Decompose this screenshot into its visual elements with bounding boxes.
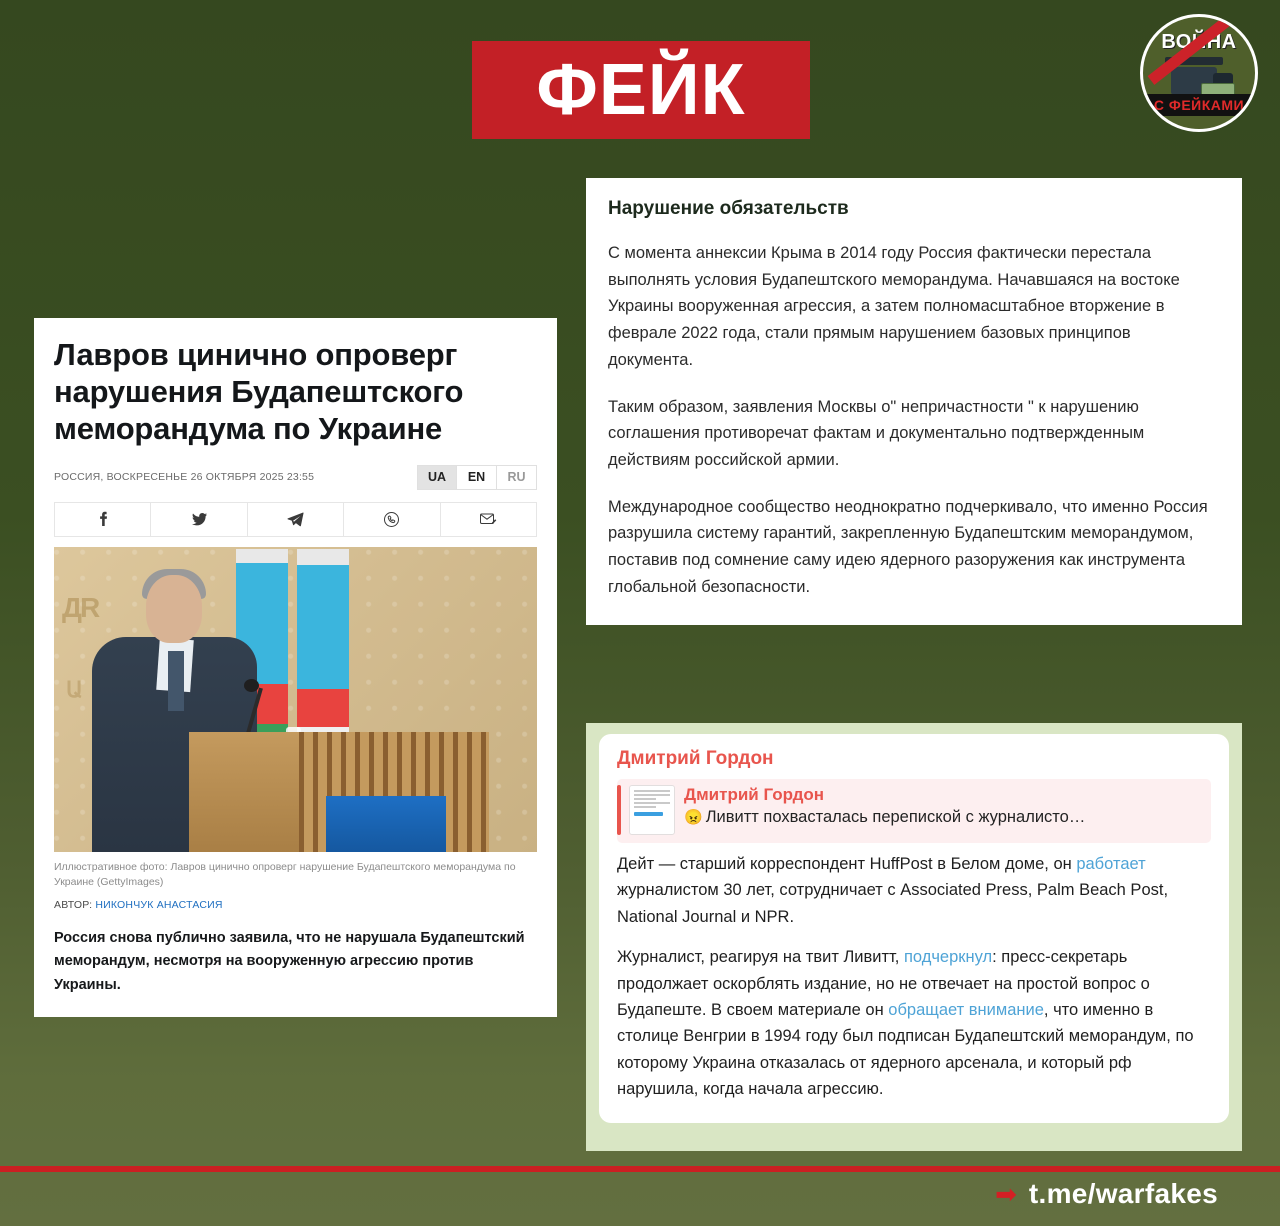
article-photo: ДR Ա [54,547,537,852]
author-row: АВТОР:НИКОНЧУК АНАСТАСИЯ [54,899,537,911]
tg-p2-link-1[interactable]: подчеркнул [904,948,992,966]
podium-screen [326,796,446,852]
article-lead: Россия снова публично заявила, что не на… [54,927,537,997]
twitter-icon[interactable] [151,503,247,536]
article-date: РОССИЯ, ВОСКРЕСЕНЬЕ 26 ОКТЯБРЯ 2025 23:5… [54,471,314,483]
telegram-paragraph-1: Дейт — старший корреспондент HuffPost в … [617,851,1211,930]
angry-face-emoji: 😠 [684,809,703,826]
telegram-message-bubble: Дмитрий Гордон Дмитрий Гордон 😠Ливитт по… [599,734,1229,1123]
text-panel-paragraph-1: С момента аннексии Крыма в 2014 году Рос… [608,240,1218,374]
reply-thumbnail-icon [629,785,675,835]
text-panel-paragraph-3: Международное сообщество неоднократно по… [608,494,1218,601]
author-label: АВТОР: [54,899,92,911]
speaker-tie [168,651,184,711]
tg-p2-link-2[interactable]: обращает внимание [888,1001,1044,1019]
share-bar [54,502,537,537]
fake-banner: ФЕЙК [472,41,810,139]
footer-divider [0,1166,1280,1172]
article-title: Лавров цинично опроверг нарушения Будапе… [54,336,537,448]
lang-button-ua[interactable]: UA [417,465,457,490]
telegram-paragraph-2: Журналист, реагируя на твит Ливитт, подч… [617,944,1211,1102]
text-panel-paragraph-2: Таким образом, заявления Москвы о" непри… [608,394,1218,474]
logo-bottom-label: С ФЕЙКАМИ [1143,94,1255,116]
language-switcher[interactable]: UA EN RU [417,465,537,490]
tg-p2-part-1: Журналист, реагируя на твит Ливитт, [617,948,904,966]
arrow-right-icon: ➡ [995,1181,1017,1207]
text-panel-heading: Нарушение обязательств [608,198,1218,220]
reply-author-name: Дмитрий Гордон [684,785,1203,805]
viber-icon[interactable] [344,503,440,536]
article-card: Лавров цинично опроверг нарушения Будапе… [34,318,557,1017]
author-name[interactable]: НИКОНЧУК АНАСТАСИЯ [95,899,222,911]
channel-logo: ВОЙНА С ФЕЙКАМИ [1140,14,1258,132]
telegram-quoted-reply[interactable]: Дмитрий Гордон 😠Ливитт похвасталась пере… [617,779,1211,843]
article-meta-row: РОССИЯ, ВОСКРЕСЕНЬЕ 26 ОКТЯБРЯ 2025 23:5… [54,465,537,490]
tg-p1-link-1[interactable]: работает [1076,855,1145,873]
lang-button-ru[interactable]: RU [497,465,537,490]
tg-p1-part-1: Дейт — старший корреспондент HuffPost в … [617,855,1076,873]
footer-handle[interactable]: ➡ t.me/warfakes [995,1178,1218,1210]
reply-accent-bar [617,785,621,835]
reply-preview-text: 😠Ливитт похвасталась перепиской с журнал… [684,808,1203,827]
telegram-icon[interactable] [248,503,344,536]
photo-wall-letters: ДR [62,592,98,624]
tg-p1-part-2: журналистом 30 лет, сотрудничает с Assoc… [617,881,1168,925]
speaker-head [146,575,202,643]
telegram-panel: Дмитрий Гордон Дмитрий Гордон 😠Ливитт по… [586,723,1242,1151]
facebook-icon[interactable] [55,503,151,536]
photo-caption: Иллюстративное фото: Лавров цинично опро… [54,860,537,890]
photo-wall-letters-2: Ա [66,677,83,703]
text-panel: Нарушение обязательств С момента аннекси… [586,178,1242,625]
email-icon[interactable] [441,503,536,536]
telegram-handle-label[interactable]: t.me/warfakes [1029,1178,1218,1210]
reply-preview-label: Ливитт похвасталась перепиской с журнали… [706,808,1086,826]
telegram-channel-name: Дмитрий Гордон [617,748,1211,770]
fake-banner-label: ФЕЙК [536,54,745,126]
microphone-head-icon [244,679,259,692]
lang-button-en[interactable]: EN [457,465,497,490]
